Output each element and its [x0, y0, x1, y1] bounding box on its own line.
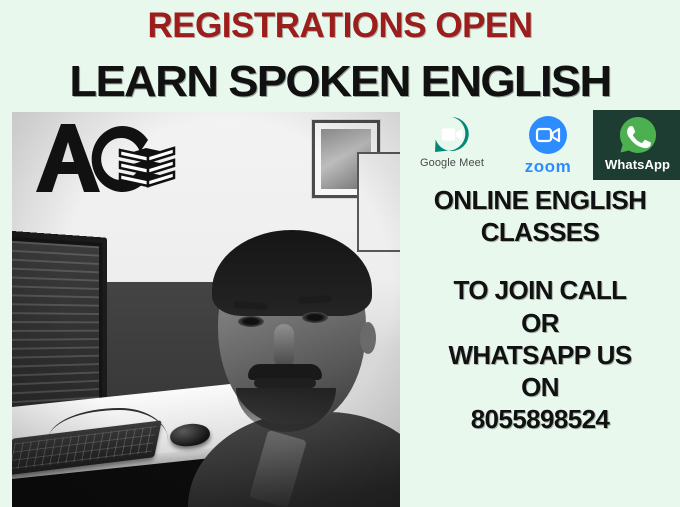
message-line-whatsapp-us: WHATSAPP US [400, 339, 680, 371]
message-block: ONLINE ENGLISH CLASSES TO JOIN CALL OR W… [400, 184, 680, 436]
message-line-online-english: ONLINE ENGLISH [400, 184, 680, 216]
whatsapp-label: WhatsApp [593, 158, 680, 171]
zoom-icon [527, 114, 569, 156]
message-phone-number[interactable]: 8055898524 [400, 403, 680, 435]
headline-learn-spoken-english: LEARN SPOKEN ENGLISH [0, 60, 680, 105]
stack-of-books-icon [120, 148, 174, 186]
google-meet-icon [431, 114, 473, 156]
platform-zoom[interactable]: zoom [504, 110, 592, 180]
platform-icon-strip: Google Meet zoom WhatsApp [402, 110, 680, 180]
message-line-on: ON [400, 371, 680, 403]
whatsapp-icon [617, 114, 659, 156]
message-line-classes: CLASSES [400, 216, 680, 248]
platform-google-meet[interactable]: Google Meet [408, 110, 496, 180]
message-line-to-join-call: TO JOIN CALL [400, 274, 680, 306]
message-spacer [400, 248, 680, 274]
zoom-label: zoom [504, 158, 592, 175]
ac-academy-logo [28, 120, 178, 194]
headline-registrations-open: REGISTRATIONS OPEN [0, 8, 680, 45]
ac-logo-graphic [28, 120, 178, 194]
google-meet-label: Google Meet [408, 158, 496, 169]
poster-canvas: REGISTRATIONS OPEN LEARN SPOKEN ENGLISH [0, 0, 680, 507]
message-line-or: OR [400, 307, 680, 339]
platform-whatsapp[interactable]: WhatsApp [593, 110, 680, 180]
